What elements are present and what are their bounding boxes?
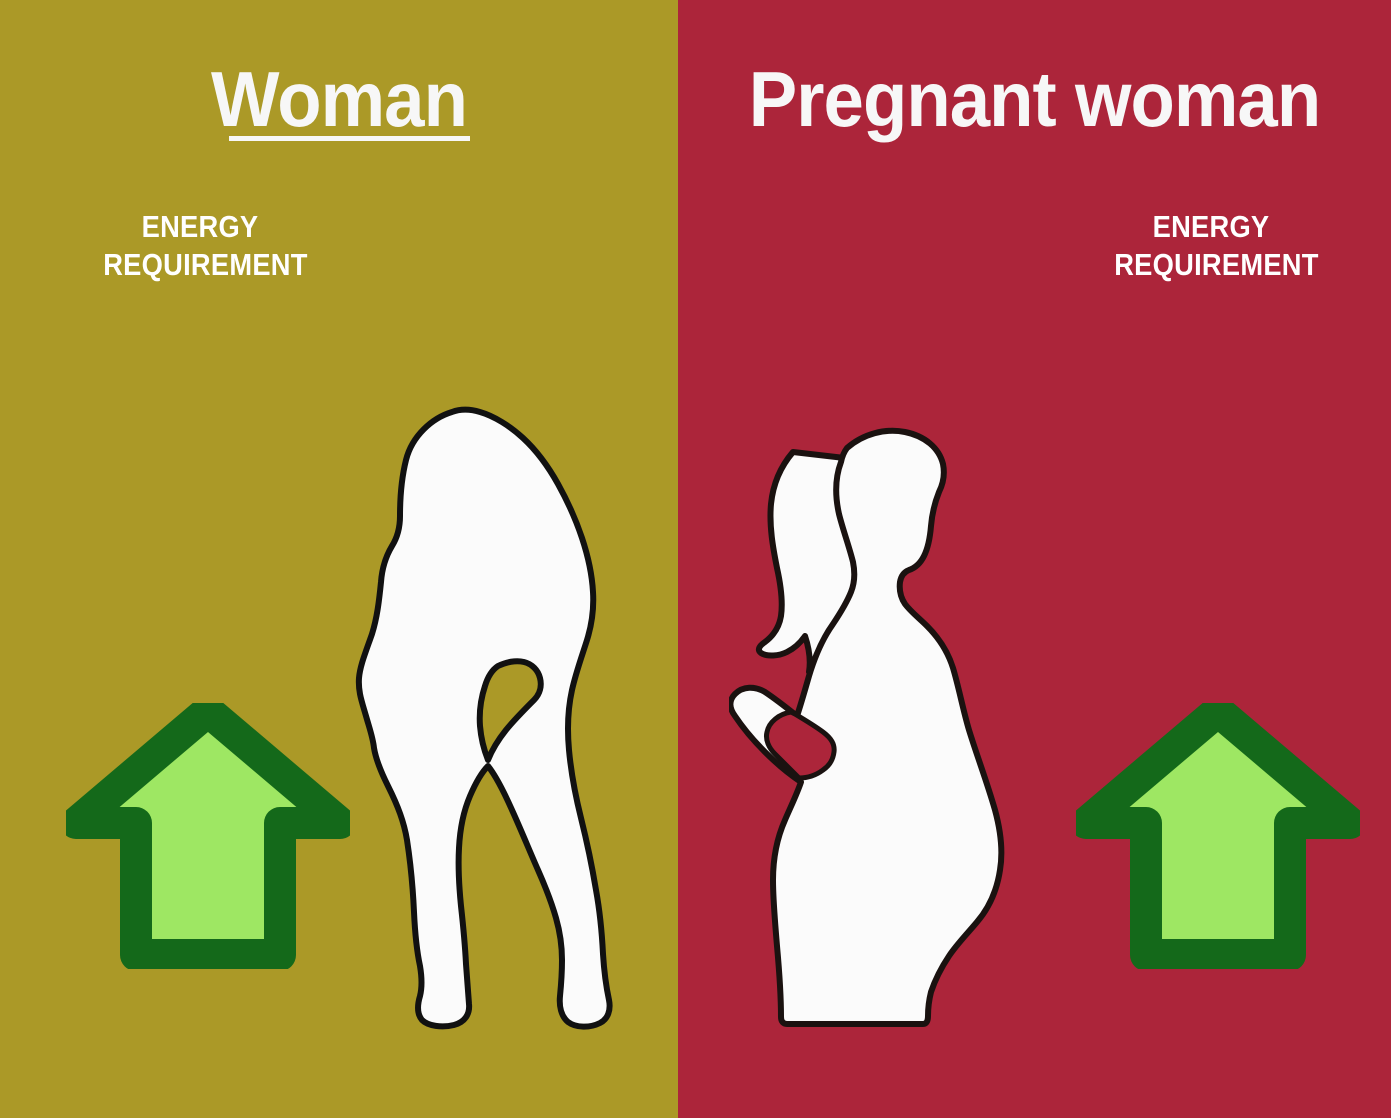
energy-requirement-infographic: Woman ENERGY REQUIREMENT Pregnant woman …: [0, 0, 1391, 1118]
up-arrow-svg: [1076, 703, 1360, 969]
energy-requirement-label-woman: ENERGY REQUIREMENT: [103, 208, 297, 284]
energy-label-line2: REQUIREMENT: [103, 246, 297, 284]
energy-label-line2: REQUIREMENT: [1114, 246, 1308, 284]
panel-woman: Woman ENERGY REQUIREMENT: [0, 0, 678, 1118]
up-arrow-svg: [66, 703, 350, 969]
up-arrow-icon-pregnant: [1076, 703, 1360, 969]
up-arrow-icon-woman: [66, 703, 350, 969]
up-arrow-shape: [1086, 711, 1350, 955]
title-underline-woman: [229, 136, 470, 141]
energy-label-line1: ENERGY: [1114, 208, 1308, 246]
panel-pregnant: Pregnant woman ENERGY REQUIREMENT: [678, 0, 1391, 1118]
up-arrow-shape: [76, 711, 340, 955]
panel-title-woman: Woman: [24, 57, 655, 141]
pregnant-woman-silhouette-svg: [729, 422, 1021, 1030]
energy-requirement-label-pregnant: ENERGY REQUIREMENT: [1114, 208, 1308, 284]
pregnant-woman-silhouette: [729, 422, 1021, 1030]
woman-silhouette-svg: [348, 404, 620, 1030]
panel-title-pregnant: Pregnant woman: [703, 57, 1366, 141]
energy-label-line1: ENERGY: [103, 208, 297, 246]
woman-silhouette: [348, 404, 620, 1030]
